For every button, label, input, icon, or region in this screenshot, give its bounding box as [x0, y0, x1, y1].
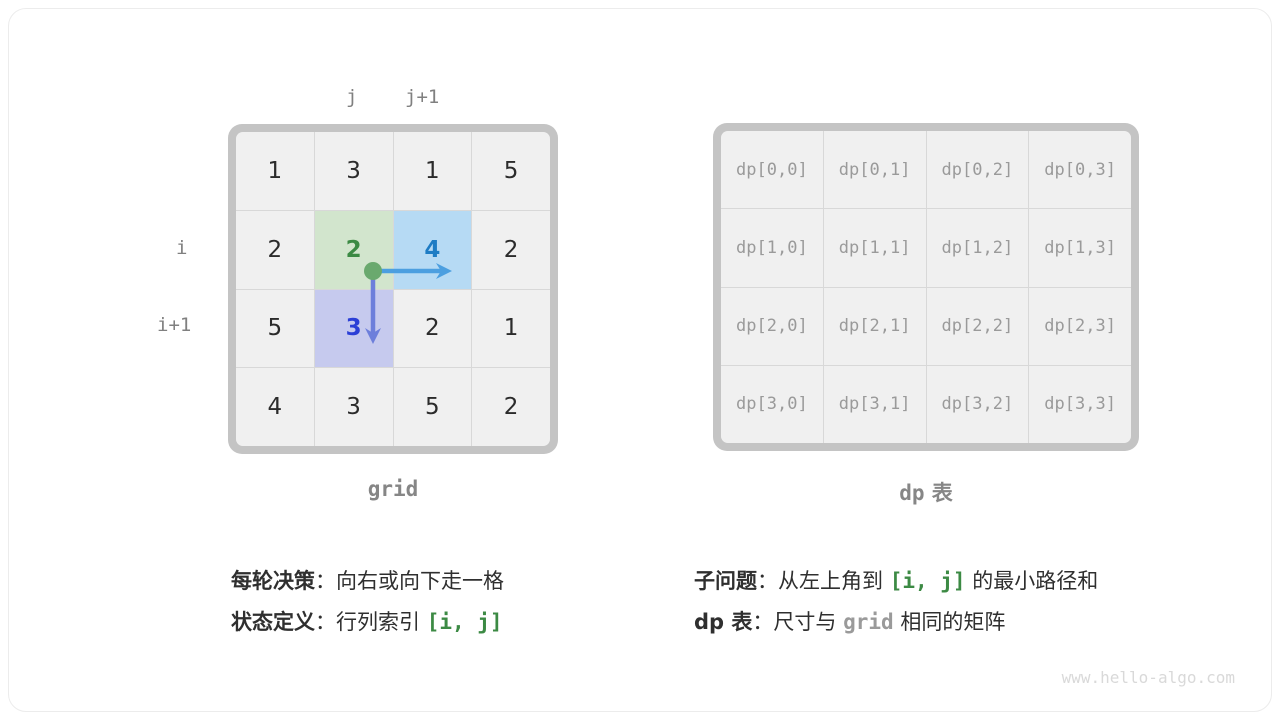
- dp-cells: dp[0,0] dp[0,1] dp[0,2] dp[0,3] dp[1,0] …: [721, 131, 1131, 443]
- grid-cell-0-0: 1: [236, 132, 314, 210]
- dp-cell-0-0: dp[0,0]: [721, 131, 823, 208]
- dp-cell-2-3: dp[2,3]: [1029, 288, 1131, 365]
- note-subproblem-code: [i, j]: [890, 569, 966, 593]
- grid-matrix: 1 3 1 5 2 2 4 2 5 3 2 1 4 3 5 2: [228, 124, 558, 454]
- dp-cell-2-1: dp[2,1]: [824, 288, 926, 365]
- grid-cell-3-3: 2: [472, 368, 550, 446]
- dp-caption-mono: dp: [899, 481, 924, 505]
- grid-cell-2-1: 3: [315, 290, 393, 368]
- dp-cell-3-1: dp[3,1]: [824, 366, 926, 443]
- dp-caption: dp 表: [713, 477, 1139, 507]
- row-label-i: i: [176, 237, 187, 259]
- grid-cell-0-3: 5: [472, 132, 550, 210]
- diagram-card: j j+1 i i+1 1 3 1 5 2 2 4 2 5 3 2 1 4 3 …: [8, 8, 1272, 712]
- dp-cell-0-1: dp[0,1]: [824, 131, 926, 208]
- grid-cell-3-0: 4: [236, 368, 314, 446]
- grid-cell-0-2: 1: [394, 132, 472, 210]
- note-decision-key: 每轮决策: [231, 569, 315, 593]
- note-subproblem-tail: 的最小路径和: [966, 569, 1099, 593]
- grid-cell-2-0: 5: [236, 290, 314, 368]
- note-dptable-key: dp 表: [694, 610, 752, 634]
- dp-cell-0-3: dp[0,3]: [1029, 131, 1131, 208]
- dp-cell-2-2: dp[2,2]: [927, 288, 1029, 365]
- grid-cell-3-1: 3: [315, 368, 393, 446]
- dp-cell-1-2: dp[1,2]: [927, 209, 1029, 286]
- grid-cell-3-2: 5: [394, 368, 472, 446]
- grid-cell-2-2: 2: [394, 290, 472, 368]
- grid-cell-2-3: 1: [472, 290, 550, 368]
- dp-cell-3-3: dp[3,3]: [1029, 366, 1131, 443]
- note-decision-sep: ：: [315, 569, 336, 593]
- dp-cell-3-0: dp[3,0]: [721, 366, 823, 443]
- note-dptable: dp 表：尺寸与 grid 相同的矩阵: [694, 602, 1098, 643]
- grid-cell-1-1: 2: [315, 211, 393, 289]
- dp-cell-0-2: dp[0,2]: [927, 131, 1029, 208]
- note-state: 状态定义：行列索引 [i, j]: [231, 602, 504, 643]
- grid-caption: grid: [228, 477, 558, 501]
- notes-right: 子问题：从左上角到 [i, j] 的最小路径和 dp 表：尺寸与 grid 相同…: [694, 561, 1098, 643]
- note-dptable-text: 尺寸与: [773, 610, 843, 634]
- grid-cell-0-1: 3: [315, 132, 393, 210]
- note-decision-text: 向右或向下走一格: [336, 569, 504, 593]
- note-state-sep: ：: [315, 610, 336, 634]
- grid-cell-1-3: 2: [472, 211, 550, 289]
- note-subproblem-text: 从左上角到: [778, 569, 890, 593]
- note-decision: 每轮决策：向右或向下走一格: [231, 561, 504, 602]
- note-subproblem: 子问题：从左上角到 [i, j] 的最小路径和: [694, 561, 1098, 602]
- note-subproblem-sep: ：: [757, 569, 778, 593]
- dp-cell-1-0: dp[1,0]: [721, 209, 823, 286]
- dp-caption-cjk: 表: [924, 481, 952, 505]
- note-subproblem-key: 子问题: [694, 569, 757, 593]
- watermark: www.hello-algo.com: [1062, 668, 1235, 687]
- column-label-j-plus-1: j+1: [405, 86, 439, 108]
- note-state-text: 行列索引: [336, 610, 427, 634]
- grid-cells: 1 3 1 5 2 2 4 2 5 3 2 1 4 3 5 2: [236, 132, 550, 446]
- notes-left: 每轮决策：向右或向下走一格 状态定义：行列索引 [i, j]: [231, 561, 504, 643]
- note-dptable-tail: 相同的矩阵: [894, 610, 1006, 634]
- note-dptable-sep: ：: [752, 610, 773, 634]
- dp-matrix: dp[0,0] dp[0,1] dp[0,2] dp[0,3] dp[1,0] …: [713, 123, 1139, 451]
- dp-cell-2-0: dp[2,0]: [721, 288, 823, 365]
- row-label-i-plus-1: i+1: [157, 314, 191, 336]
- note-state-key: 状态定义: [231, 610, 315, 634]
- grid-cell-1-0: 2: [236, 211, 314, 289]
- note-state-code: [i, j]: [427, 610, 503, 634]
- dp-cell-1-3: dp[1,3]: [1029, 209, 1131, 286]
- dp-cell-1-1: dp[1,1]: [824, 209, 926, 286]
- note-dptable-code: grid: [843, 610, 894, 634]
- dp-cell-3-2: dp[3,2]: [927, 366, 1029, 443]
- column-label-j: j: [346, 86, 357, 108]
- grid-cell-1-2: 4: [394, 211, 472, 289]
